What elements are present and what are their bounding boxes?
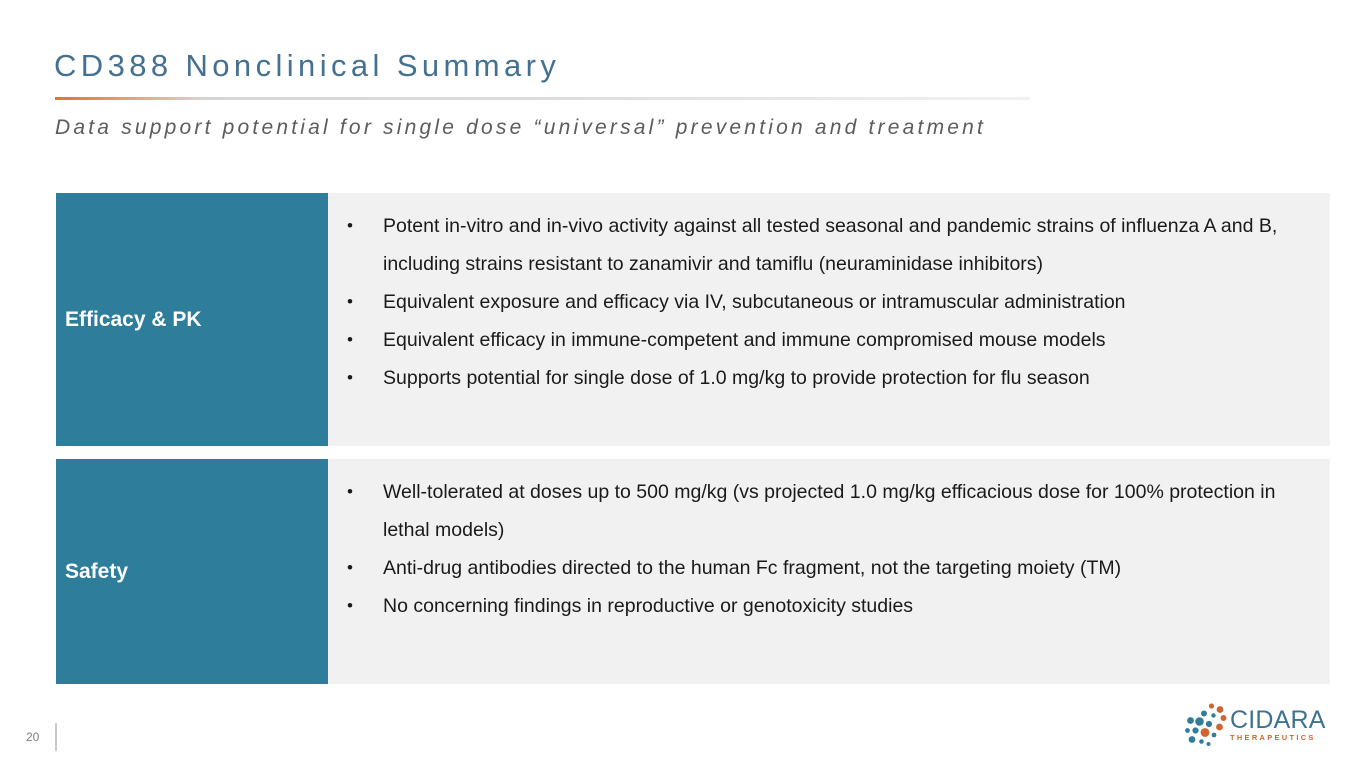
panel-safety: Safety Well-tolerated at doses up to 500… [56,459,1330,684]
page-title: CD388 Nonclinical Summary [54,48,560,84]
logo-tagline: THERAPEUTICS [1230,733,1327,743]
cidara-logo: CIDARA THERAPEUTICS [1182,702,1327,750]
logo-name: CIDARA [1230,707,1327,733]
list-item: Equivalent efficacy in immune-competent … [340,321,1326,359]
list-item: Supports potential for single dose of 1.… [340,359,1326,397]
list-item: Potent in-vitro and in-vivo activity aga… [340,207,1326,283]
list-item: Equivalent exposure and efficacy via IV,… [340,283,1326,321]
list-item: No concerning findings in reproductive o… [340,587,1326,625]
panel-body-efficacy-pk: Potent in-vitro and in-vivo activity aga… [328,193,1330,446]
footer-divider [55,723,57,751]
page-number: 20 [26,730,39,744]
logo-dots-icon [1182,702,1230,750]
list-item: Anti-drug antibodies directed to the hum… [340,549,1326,587]
bullet-list-efficacy-pk: Potent in-vitro and in-vivo activity aga… [340,207,1326,397]
slide: CD388 Nonclinical Summary Data support p… [0,0,1365,768]
panel-label-efficacy-pk: Efficacy & PK [56,193,328,446]
panel-label-safety: Safety [56,459,328,684]
list-item: Well-tolerated at doses up to 500 mg/kg … [340,473,1326,549]
logo-wordmark: CIDARA THERAPEUTICS [1230,707,1327,743]
page-subtitle: Data support potential for single dose “… [55,116,986,140]
bullet-list-safety: Well-tolerated at doses up to 500 mg/kg … [340,473,1326,625]
title-divider [55,97,1030,100]
panel-body-safety: Well-tolerated at doses up to 500 mg/kg … [328,459,1330,684]
panel-efficacy-pk: Efficacy & PK Potent in-vitro and in-viv… [56,193,1330,446]
